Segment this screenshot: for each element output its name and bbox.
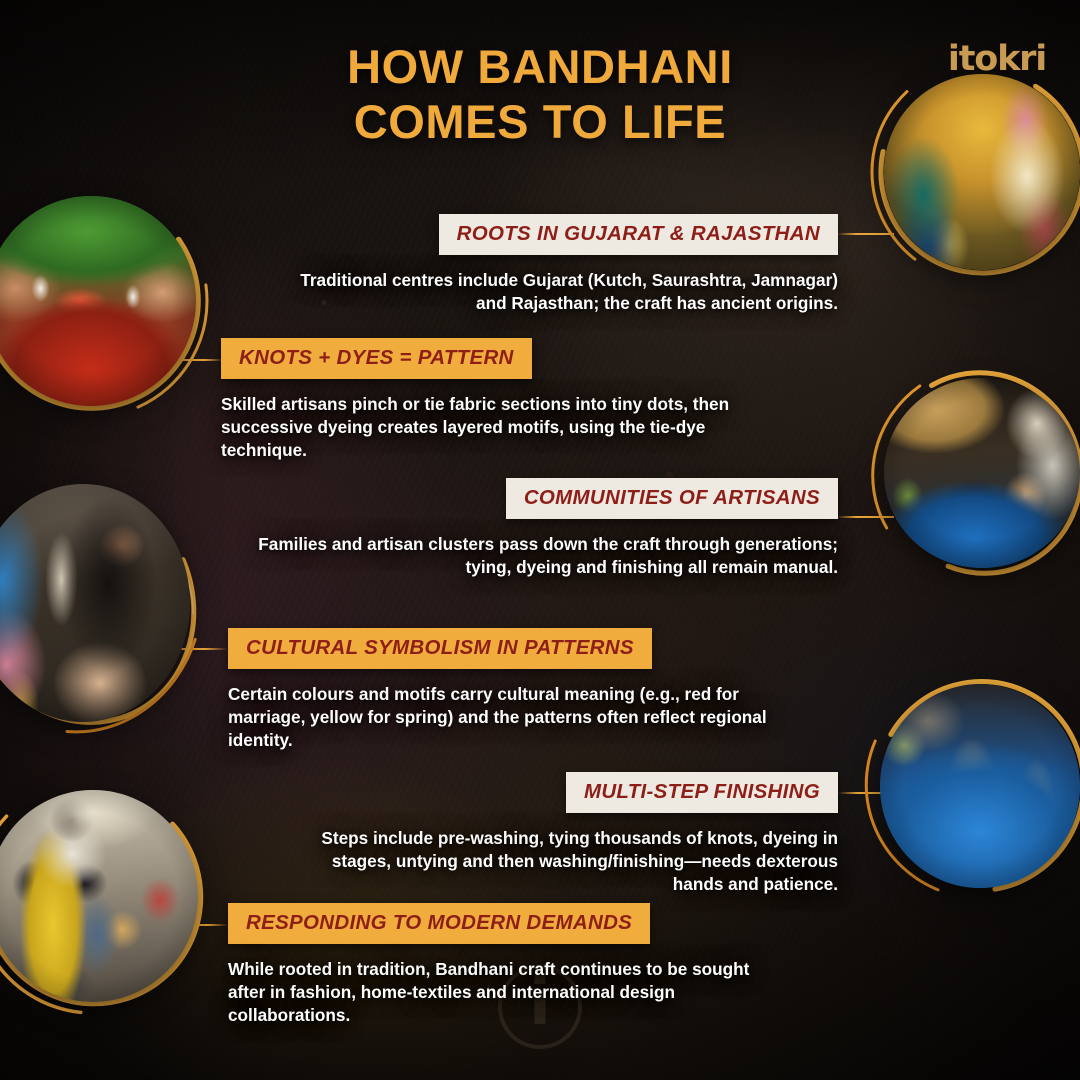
photo-artisan-woman-knotting	[0, 484, 190, 722]
photo-lifting-yellow-cloth	[0, 790, 198, 1002]
section-cultural-symbolism-in-patterns: CULTURAL SYMBOLISM IN PATTERNS Certain c…	[228, 628, 790, 752]
brand-logo[interactable]: itokri	[938, 36, 1046, 82]
section-knots-dyes-pattern: KNOTS + DYES = PATTERN Skilled artisans …	[221, 338, 787, 462]
section-label-6: RESPONDING TO MODERN DEMANDS	[228, 903, 650, 944]
infographic-poster: i HOW BANDHANI COMES TO LIFE itokri	[0, 0, 1080, 1080]
photo-image	[884, 378, 1080, 568]
section-roots-in-gujarat-rajasthan: ROOTS IN GUJARAT & RAJASTHAN Traditional…	[268, 214, 838, 315]
brand-logo-text: itokri	[938, 36, 1046, 82]
photo-blue-dye-vat	[880, 684, 1080, 888]
section-label-3: COMMUNITIES OF ARTISANS	[506, 478, 838, 519]
photo-women-tying-bandhani	[884, 74, 1080, 270]
photo-dyer-blue-vat-gloves	[884, 378, 1080, 568]
section-body-1: Traditional centres include Gujarat (Kut…	[268, 269, 838, 315]
section-body-5: Steps include pre-washing, tying thousan…	[318, 827, 838, 896]
section-body-2: Skilled artisans pinch or tie fabric sec…	[221, 393, 787, 462]
section-label-1: ROOTS IN GUJARAT & RAJASTHAN	[439, 214, 838, 255]
section-body-3: Families and artisan clusters pass down …	[232, 533, 838, 579]
photo-image	[0, 484, 190, 722]
section-body-6: While rooted in tradition, Bandhani craf…	[228, 958, 780, 1027]
section-multi-step-finishing: MULTI-STEP FINISHING Steps include pre-w…	[318, 772, 838, 896]
section-label-4: CULTURAL SYMBOLISM IN PATTERNS	[228, 628, 652, 669]
title-line-2: COMES TO LIFE	[150, 95, 930, 150]
photo-hands-tying-red-cloth	[0, 196, 196, 406]
section-communities-of-artisans: COMMUNITIES OF ARTISANS Families and art…	[232, 478, 838, 579]
title-line-1: HOW BANDHANI	[150, 40, 930, 95]
photo-image	[884, 74, 1080, 270]
photo-image	[0, 790, 198, 1002]
section-responding-to-modern-demands: RESPONDING TO MODERN DEMANDS While roote…	[228, 903, 780, 1027]
photo-image	[0, 196, 196, 406]
section-label-2: KNOTS + DYES = PATTERN	[221, 338, 532, 379]
section-label-5: MULTI-STEP FINISHING	[566, 772, 838, 813]
photo-image	[880, 684, 1080, 888]
section-body-4: Certain colours and motifs carry cultura…	[228, 683, 790, 752]
